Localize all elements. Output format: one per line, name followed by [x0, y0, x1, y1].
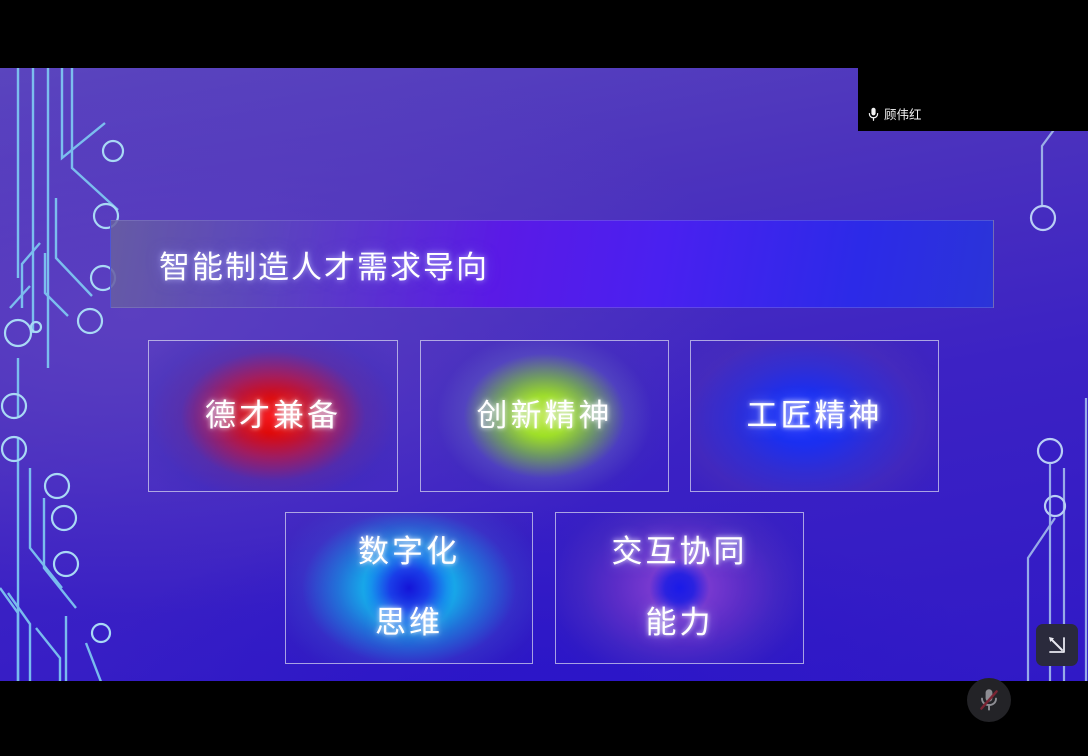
- concept-card-label: 思维: [375, 608, 443, 639]
- concept-card-dcjb[interactable]: 德才兼备: [148, 340, 398, 492]
- video-thumbnail[interactable]: 顾伟红: [858, 0, 1088, 131]
- concept-card-label: 创新精神: [477, 401, 613, 432]
- concept-card-szhsw[interactable]: 数字化 思维: [285, 512, 533, 664]
- circuit-decoration-right: [998, 68, 1088, 681]
- pen-annotate-icon: [1045, 633, 1069, 657]
- annotate-button[interactable]: [1036, 624, 1078, 666]
- bottom-toolbar: [0, 681, 1088, 756]
- microphone-icon: [868, 107, 879, 121]
- circuit-decoration-left: [0, 68, 130, 681]
- participant-name-chip: 顾伟红: [864, 102, 929, 125]
- screen-share-viewer: 智能制造人才需求导向 德才兼备 创新精神 工匠精神 数字化 思维 交互协同 能力…: [0, 0, 1088, 756]
- concept-card-gjjs[interactable]: 工匠精神: [690, 340, 939, 492]
- page-title: 智能制造人才需求导向: [159, 242, 489, 287]
- concept-card-label: 数字化: [358, 537, 460, 568]
- concept-card-label: 工匠精神: [747, 401, 883, 432]
- concept-card-label: 能力: [646, 608, 714, 639]
- concept-card-label: 交互协同: [612, 537, 748, 568]
- concept-card-label: 德才兼备: [205, 401, 341, 432]
- concept-card-cxjs[interactable]: 创新精神: [420, 340, 669, 492]
- slide-canvas[interactable]: 智能制造人才需求导向 德才兼备 创新精神 工匠精神 数字化 思维 交互协同 能力…: [0, 68, 1088, 681]
- mic-mute-button[interactable]: [967, 678, 1011, 722]
- slide-title-banner: 智能制造人才需求导向: [110, 220, 994, 308]
- concept-card-jhxtnl[interactable]: 交互协同 能力: [555, 512, 804, 664]
- microphone-muted-icon: [977, 687, 1001, 713]
- participant-name: 顾伟红: [884, 104, 922, 123]
